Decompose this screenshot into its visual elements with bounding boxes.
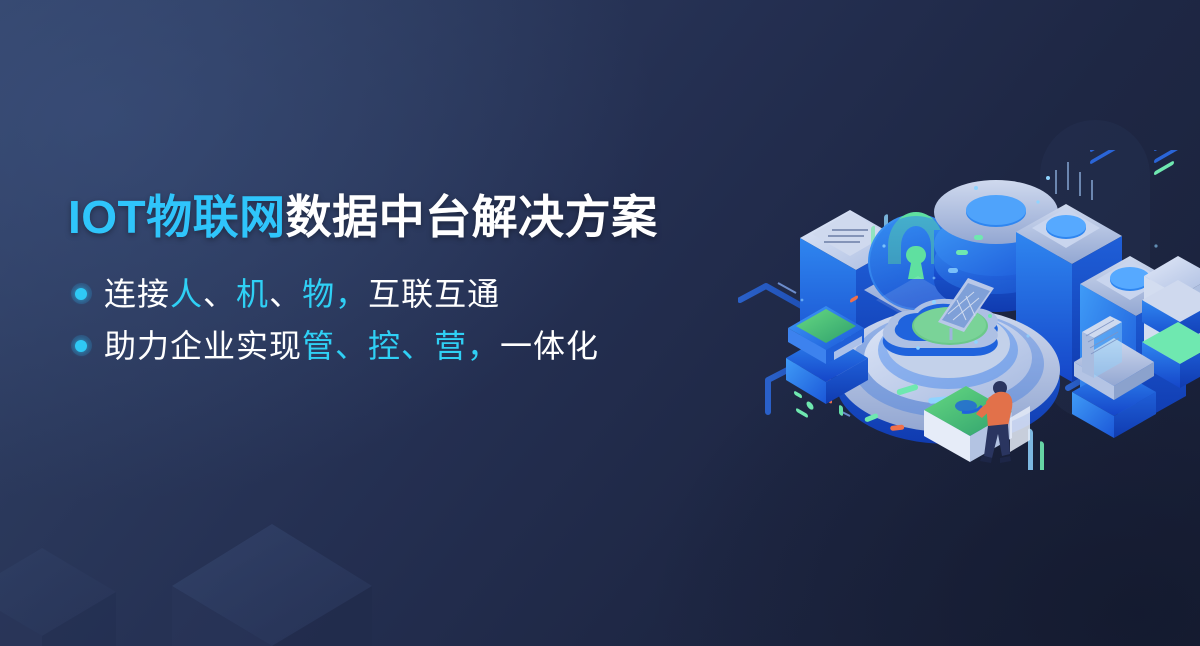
seg: 、 [203,276,236,312]
seg: 、 [269,276,302,312]
seg: 互联互通 [368,276,500,312]
seg: 助力企业实现 [104,328,302,364]
bullet-dot-icon [68,281,94,307]
list-item: 连接人、机、物，互联互通 [68,268,788,320]
seg: 人 [170,276,203,312]
list-item: 助力企业实现管、控、营，一体化 [68,320,788,372]
seg: 物， [302,276,368,312]
feature-text-1: 连接人、机、物，互联互通 [104,274,500,314]
seg: 一体化 [500,328,599,364]
seg: 机 [236,276,269,312]
network-rack-right [1142,150,1200,470]
bullet-dot-icon [68,333,94,359]
headline-main: 数据中台解决方案 [286,191,658,243]
seg: 连接 [104,276,170,312]
page-title: IOT物联网数据中台解决方案 [68,193,788,243]
feature-text-2: 助力企业实现管、控、营，一体化 [104,326,599,366]
iso-cube-small [0,548,116,646]
seg: 管、控、营， [302,328,500,364]
iot-solution-banner: IOT物联网数据中台解决方案 连接人、机、物，互联互通 助力企业实现管、控、营，… [0,0,1200,646]
isometric-iot-data-center-illustration [738,150,1200,470]
iso-cube-large [172,524,372,646]
feature-list: 连接人、机、物，互联互通 助力企业实现管、控、营，一体化 [68,268,788,372]
headline-accent: IOT物联网 [68,191,286,243]
banner-text-block: IOT物联网数据中台解决方案 连接人、机、物，互联互通 助力企业实现管、控、营，… [68,193,788,372]
